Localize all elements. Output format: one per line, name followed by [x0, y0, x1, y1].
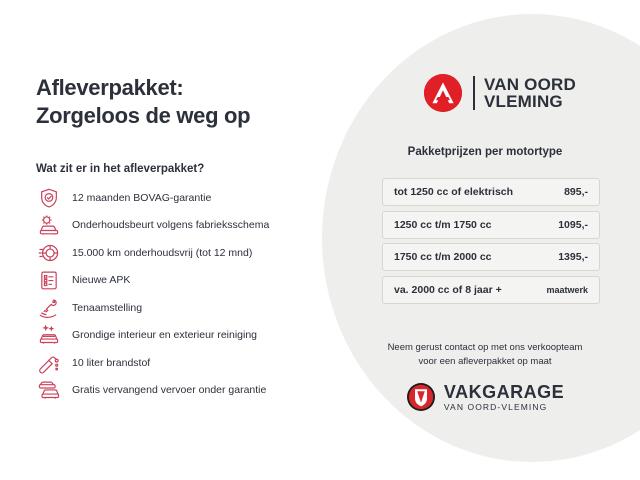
replacement-car-icon: [36, 378, 62, 402]
list-item-label: 10 liter brandstof: [72, 357, 150, 369]
car-sparkle-clean-icon: [36, 323, 62, 347]
vakgarage-wordmark: VAKGARAGE VAN OORD-VLEMING: [444, 383, 564, 412]
brand-logo: VAN OORD VLEMING: [424, 74, 576, 112]
list-item-label: 15.000 km onderhoudsvrij (tot 12 mnd): [72, 247, 252, 259]
price-row-name: 1250 cc t/m 1750 cc: [394, 219, 492, 231]
list-item: Gratis vervangend vervoer onder garantie: [36, 377, 326, 405]
brand-name-line-1: VAN OORD: [484, 76, 576, 94]
list-item: Onderhoudsbeurt volgens fabrieksschema: [36, 212, 326, 240]
fuel-pump-icon: [36, 351, 62, 375]
table-row: va. 2000 cc of 8 jaar + maatwerk: [382, 276, 600, 304]
list-item-label: 12 maanden BOVAG-garantie: [72, 192, 211, 204]
vakgarage-name: VAKGARAGE: [444, 383, 564, 401]
brand-name-line-2: VLEMING: [484, 93, 576, 111]
price-row-name: 1750 cc t/m 2000 cc: [394, 251, 492, 263]
headline-line-1: Afleverpakket:: [36, 74, 326, 102]
list-item-label: Tenaamstelling: [72, 302, 142, 314]
brand-divider: [473, 76, 475, 110]
list-item: Tenaamstelling: [36, 294, 326, 322]
wheel-speed-icon: [36, 241, 62, 265]
page-title: Afleverpakket: Zorgeloos de weg op: [36, 74, 326, 130]
contact-note: Neem gerust contact op met ons verkoopte…: [330, 341, 640, 369]
price-table: tot 1250 cc of elektrisch 895,- 1250 cc …: [382, 178, 600, 308]
car-service-gear-icon: [36, 213, 62, 237]
brand-name: VAN OORD VLEMING: [484, 76, 576, 111]
price-row-name: va. 2000 cc of 8 jaar +: [394, 284, 502, 296]
list-item: 12 maanden BOVAG-garantie: [36, 184, 326, 212]
list-item: 15.000 km onderhoudsvrij (tot 12 mnd): [36, 239, 326, 267]
van-oord-a-mark-icon: [424, 74, 462, 112]
features-subheading: Wat zit er in het afleverpakket?: [36, 163, 204, 175]
price-row-value: 895,-: [564, 186, 588, 198]
list-item-label: Grondige interieur en exterieur reinigin…: [72, 329, 257, 341]
prices-title: Pakketprijzen per motortype: [330, 146, 640, 158]
price-row-value: maatwerk: [546, 285, 588, 295]
price-row-value: 1395,-: [558, 251, 588, 263]
vakgarage-v-shield-icon: [406, 382, 436, 412]
price-row-name: tot 1250 cc of elektrisch: [394, 186, 513, 198]
list-item: 10 liter brandstof: [36, 349, 326, 377]
headline-line-2: Zorgeloos de weg op: [36, 102, 326, 130]
vakgarage-logo: VAKGARAGE VAN OORD-VLEMING: [330, 382, 640, 412]
feature-list: 12 maanden BOVAG-garantie Onderhoudsbeur…: [36, 184, 326, 404]
shield-check-icon: [36, 186, 62, 210]
list-item-label: Onderhoudsbeurt volgens fabrieksschema: [72, 219, 269, 231]
vakgarage-subname: VAN OORD-VLEMING: [444, 403, 564, 412]
left-panel: Afleverpakket: Zorgeloos de weg op Wat z…: [0, 0, 330, 480]
list-item: Nieuwe APK: [36, 267, 326, 295]
contact-note-line-1: Neem gerust contact op met ons verkoopte…: [330, 341, 640, 355]
contact-note-line-2: voor een afleverpakket op maat: [330, 355, 640, 369]
poster-canvas: Afleverpakket: Zorgeloos de weg op Wat z…: [0, 0, 640, 480]
checklist-clipboard-icon: [36, 268, 62, 292]
list-item-label: Gratis vervangend vervoer onder garantie: [72, 384, 266, 396]
table-row: 1250 cc t/m 1750 cc 1095,-: [382, 211, 600, 239]
price-row-value: 1095,-: [558, 219, 588, 231]
table-row: tot 1250 cc of elektrisch 895,-: [382, 178, 600, 206]
right-panel: VAN OORD VLEMING Pakketprijzen per motor…: [330, 0, 640, 480]
table-row: 1750 cc t/m 2000 cc 1395,-: [382, 243, 600, 271]
hand-key-icon: [36, 296, 62, 320]
list-item: Grondige interieur en exterieur reinigin…: [36, 322, 326, 350]
list-item-label: Nieuwe APK: [72, 274, 130, 286]
